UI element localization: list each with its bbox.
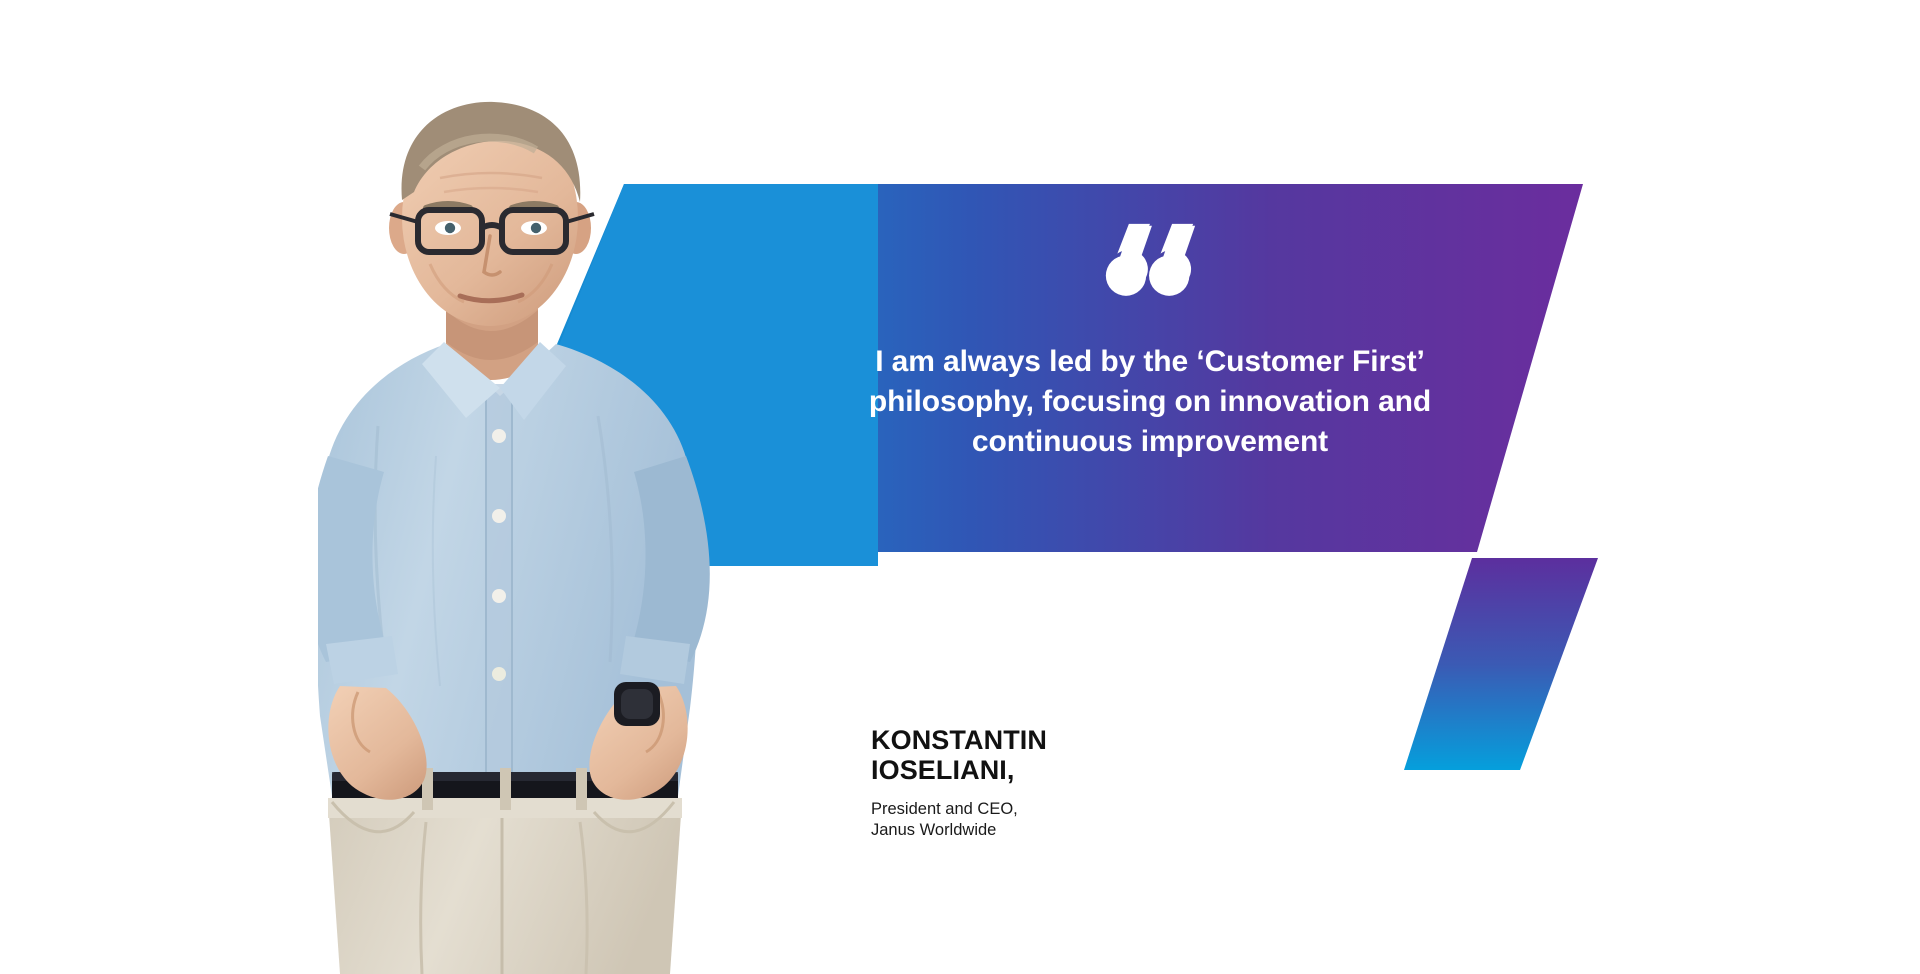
shirt-button [492,509,506,523]
attribution-block: KONSTANTIN IOSELIANI, President and CEO,… [871,725,1291,840]
shirt-placket [486,384,512,784]
speaker-name-line-2: IOSELIANI, [871,755,1291,785]
accent-parallelogram-shape [1404,558,1598,770]
quote-line-1: I am always led by the ‘Customer First’ [770,342,1530,382]
shirt-button [492,667,506,681]
speaker-role-line-2: Janus Worldwide [871,820,1291,840]
pupil-left [445,223,455,233]
quote-block: I am always led by the ‘Customer First’ … [770,220,1530,462]
quote-line-3: continuous improvement [770,422,1530,462]
belt-loop [576,768,587,810]
belt-loop [500,768,511,810]
trousers [328,800,682,974]
speaker-role-line-1: President and CEO, [871,799,1291,819]
quote-banner-canvas: I am always led by the ‘Customer First’ … [0,0,1920,974]
speaker-name: KONSTANTIN IOSELIANI, [871,725,1291,785]
double-quote-icon [1102,220,1198,316]
quote-text: I am always led by the ‘Customer First’ … [770,342,1530,462]
portrait-white-notch [318,96,878,184]
pupil-right [531,223,541,233]
wristwatch-face [621,689,653,719]
shirt-button [492,589,506,603]
quote-line-2: philosophy, focusing on innovation and [770,382,1530,422]
shirt-button [492,429,506,443]
speaker-name-line-1: KONSTANTIN [871,725,1291,755]
speaker-role: President and CEO, Janus Worldwide [871,799,1291,839]
